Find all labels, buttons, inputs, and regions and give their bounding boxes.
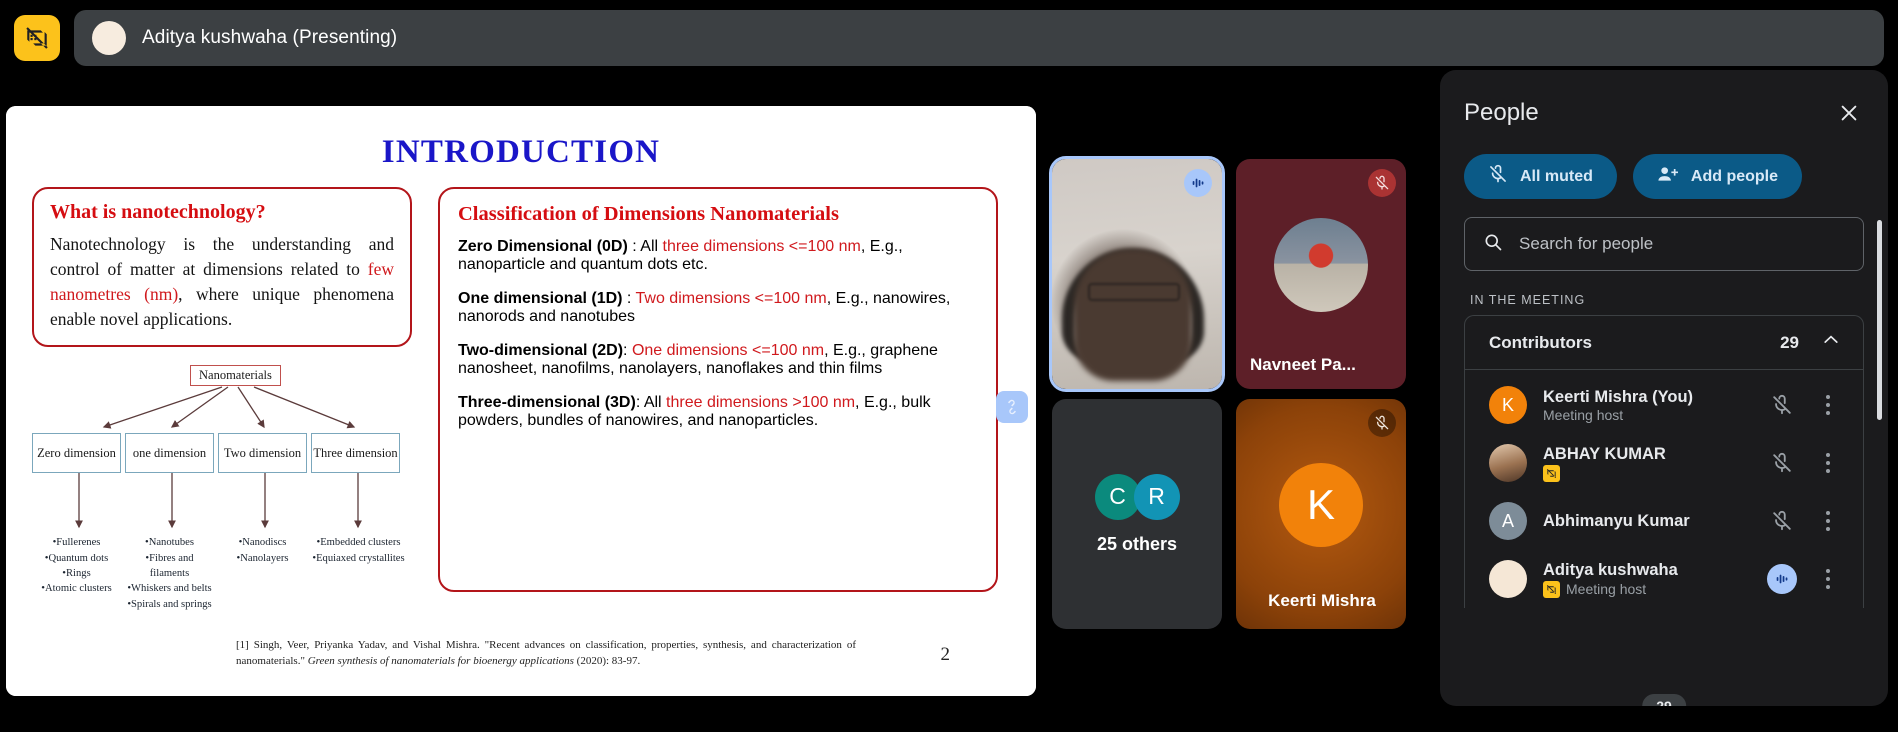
- list-item: •Fibres and filaments: [125, 551, 214, 582]
- participant-subtitle: [1543, 465, 1749, 482]
- item-label: Two-dimensional (2D): [458, 342, 623, 359]
- search-placeholder: Search for people: [1519, 234, 1653, 254]
- tile-label: Keerti Mishra: [1236, 591, 1406, 629]
- tile-label: Navneet Pa...: [1236, 355, 1406, 389]
- left-box-heading: What is nanotechnology?: [50, 201, 394, 224]
- more-options-icon[interactable]: [1815, 569, 1841, 589]
- item-sep: :: [622, 290, 635, 307]
- list-item: •Whiskers and belts: [125, 581, 214, 596]
- avatar: A: [1489, 502, 1527, 540]
- diagram-list-row: •Fullerenes •Quantum dots •Rings •Atomic…: [32, 535, 406, 612]
- item-highlight: three dimensions <=100 nm: [663, 238, 861, 255]
- classification-item-1d: One dimensional (1D) : Two dimensions <=…: [458, 290, 978, 326]
- classification-item-3d: Three-dimensional (3D): All three dimens…: [458, 394, 978, 430]
- classification-item-2d: Two-dimensional (2D): One dimensions <=1…: [458, 342, 978, 378]
- citation-journal: Green synthesis of nanomaterials for bio…: [308, 655, 574, 667]
- people-panel: People All muted: [1440, 70, 1888, 706]
- meeting-stage: INTRODUCTION What is nanotechnology? Nan…: [0, 76, 1898, 732]
- item-label: Zero Dimensional (0D): [458, 238, 628, 255]
- avatar: [92, 21, 126, 55]
- participant-list: K Keerti Mishra (You) Meeting host: [1465, 370, 1863, 608]
- mic-off-icon: [1368, 169, 1396, 197]
- pin-toggle-icon[interactable]: [996, 391, 1028, 423]
- list-item: •Rings: [32, 566, 121, 581]
- tile-others[interactable]: C R 25 others: [1052, 399, 1222, 629]
- person-add-icon: [1657, 164, 1679, 189]
- mic-off-icon: [1488, 164, 1508, 189]
- classification-box: Classification of Dimensions Nanomateria…: [438, 187, 998, 592]
- avatar: R: [1134, 474, 1180, 520]
- right-box-heading: Classification of Dimensions Nanomateria…: [458, 203, 978, 226]
- item-highlight: One dimensions <=100 nm: [632, 342, 824, 359]
- mic-off-icon[interactable]: [1765, 394, 1799, 416]
- item-label: Three-dimensional (3D): [458, 394, 636, 411]
- list-item: •Equiaxed crystallites: [311, 551, 406, 566]
- left-text-part1: Nanotechnology is the understanding and …: [50, 234, 394, 279]
- close-icon[interactable]: [1832, 96, 1866, 130]
- presenter-name: Aditya kushwaha (Presenting): [142, 27, 397, 49]
- mic-off-icon: [1368, 409, 1396, 437]
- tile-keerti-mishra[interactable]: K Keerti Mishra: [1236, 399, 1406, 629]
- what-is-nanotechnology-box: What is nanotechnology? Nanotechnology i…: [32, 187, 412, 347]
- item-sep: : All: [636, 394, 666, 411]
- others-avatars: C R: [1095, 474, 1180, 520]
- participant-subtitle: Meeting host: [1543, 581, 1749, 598]
- all-muted-label: All muted: [1520, 168, 1593, 186]
- item-sep: :: [623, 342, 632, 359]
- participant-role-label: Meeting host: [1566, 581, 1646, 597]
- tile-navneet-pa[interactable]: Navneet Pa...: [1236, 159, 1406, 389]
- contributors-header[interactable]: Contributors 29: [1465, 316, 1863, 370]
- diagram-box-3: Three dimension: [311, 433, 400, 473]
- list-item[interactable]: A Abhimanyu Kumar: [1465, 492, 1863, 550]
- slide-page-number: 2: [941, 644, 951, 666]
- person-head-shape: [1074, 249, 1192, 381]
- avatar: K: [1489, 386, 1527, 424]
- glasses-shape: [1088, 283, 1180, 301]
- more-options-icon[interactable]: [1815, 395, 1841, 415]
- panel-scrollbar[interactable]: [1877, 220, 1882, 420]
- list-item: •Nanodiscs: [218, 535, 307, 550]
- participant-tiles: Aditya kush... Navneet Pa... C R 25 othe…: [1052, 159, 1412, 629]
- presenter-pill[interactable]: Aditya kushwaha (Presenting): [74, 10, 1884, 66]
- classification-item-0d: Zero Dimensional (0D) : All three dimens…: [458, 238, 978, 274]
- mic-on-icon: [1767, 564, 1797, 594]
- item-highlight: three dimensions >100 nm: [666, 394, 855, 411]
- diagram-list-1: •Nanotubes •Fibres and filaments •Whiske…: [125, 535, 214, 612]
- others-stack: C R 25 others: [1052, 399, 1222, 629]
- participant-name: ABHAY KUMAR: [1543, 444, 1749, 465]
- diagram-list-0: •Fullerenes •Quantum dots •Rings •Atomic…: [32, 535, 121, 612]
- list-item: •Atomic clusters: [32, 581, 121, 596]
- mic-off-icon[interactable]: [1765, 510, 1799, 532]
- diagram-box-row: Zero dimension one dimension Two dimensi…: [32, 433, 400, 473]
- mic-on-icon: [1184, 169, 1212, 197]
- participant-name: Aditya kushwaha: [1543, 560, 1749, 581]
- slide-citation: [1] Singh, Veer, Priyanka Yadav, and Vis…: [236, 638, 856, 670]
- list-item[interactable]: Aditya kushwaha Meeting host: [1465, 550, 1863, 608]
- item-highlight: Two dimensions <=100 nm: [636, 290, 827, 307]
- people-panel-header: People: [1440, 92, 1888, 134]
- screen-share-off-icon: [1543, 465, 1560, 482]
- diagram-box-1: one dimension: [125, 433, 214, 473]
- diagram-list-3: •Embedded clusters •Equiaxed crystallite…: [311, 535, 406, 612]
- search-input[interactable]: Search for people: [1464, 217, 1864, 271]
- people-panel-title: People: [1464, 99, 1539, 127]
- diagram-box-2: Two dimension: [218, 433, 307, 473]
- participant-name: Abhimanyu Kumar: [1543, 511, 1749, 532]
- contributors-title: Contributors: [1489, 333, 1592, 353]
- list-item[interactable]: K Keerti Mishra (You) Meeting host: [1465, 376, 1863, 434]
- list-item: •Embedded clusters: [311, 535, 406, 550]
- item-sep: : All: [628, 238, 663, 255]
- participant-name: Keerti Mishra (You): [1543, 387, 1749, 408]
- item-label: One dimensional (1D): [458, 290, 622, 307]
- section-label-in-the-meeting: IN THE MEETING: [1440, 271, 1888, 315]
- search-icon: [1483, 232, 1503, 257]
- avatar: K: [1279, 463, 1363, 547]
- screen-share-off-icon[interactable]: [14, 15, 60, 61]
- participant-role-label: Meeting host: [1543, 407, 1623, 423]
- list-item: •Nanotubes: [125, 535, 214, 550]
- screen-share-off-icon: [1543, 581, 1560, 598]
- avatar: [1274, 218, 1368, 312]
- mic-on-indicator[interactable]: [1765, 564, 1799, 594]
- contributors-group: Contributors 29 K Keerti Mishra (You): [1464, 315, 1864, 608]
- diagram-box-0: Zero dimension: [32, 433, 121, 473]
- list-item: •Nanolayers: [218, 551, 307, 566]
- add-people-label: Add people: [1691, 168, 1778, 186]
- others-count-label: 25 others: [1097, 534, 1177, 555]
- add-people-button[interactable]: Add people: [1633, 154, 1802, 199]
- avatar: [1489, 444, 1527, 482]
- list-item: •Quantum dots: [32, 551, 121, 566]
- diagram-root-node: Nanomaterials: [190, 365, 281, 386]
- presentation-slide[interactable]: INTRODUCTION What is nanotechnology? Nan…: [6, 106, 1036, 696]
- contributors-count: 29: [1780, 333, 1799, 353]
- top-bar: Aditya kushwaha (Presenting): [0, 0, 1898, 76]
- chevron-up-icon[interactable]: [1821, 330, 1841, 355]
- more-options-icon[interactable]: [1815, 453, 1841, 473]
- citation-part2: (2020): 83-97.: [574, 655, 640, 667]
- slide-title: INTRODUCTION: [32, 134, 1010, 171]
- participant-subtitle: Meeting host: [1543, 407, 1749, 423]
- list-item: •Fullerenes: [32, 535, 121, 550]
- tile-aditya-kushwaha[interactable]: Aditya kush...: [1052, 159, 1222, 389]
- participant-count-chip: 29: [1642, 694, 1686, 706]
- nanomaterials-diagram: Nanomaterials Zero dimension one dimensi…: [32, 365, 412, 615]
- list-item[interactable]: ABHAY KUMAR: [1465, 434, 1863, 492]
- left-box-text: Nanotechnology is the understanding and …: [50, 232, 394, 331]
- diagram-list-2: •Nanodiscs •Nanolayers: [218, 535, 307, 612]
- avatar: [1489, 560, 1527, 598]
- more-options-icon[interactable]: [1815, 511, 1841, 531]
- list-item: •Spirals and springs: [125, 597, 214, 612]
- people-action-buttons: All muted Add people: [1440, 134, 1888, 199]
- all-muted-button[interactable]: All muted: [1464, 154, 1617, 199]
- mic-off-icon[interactable]: [1765, 452, 1799, 474]
